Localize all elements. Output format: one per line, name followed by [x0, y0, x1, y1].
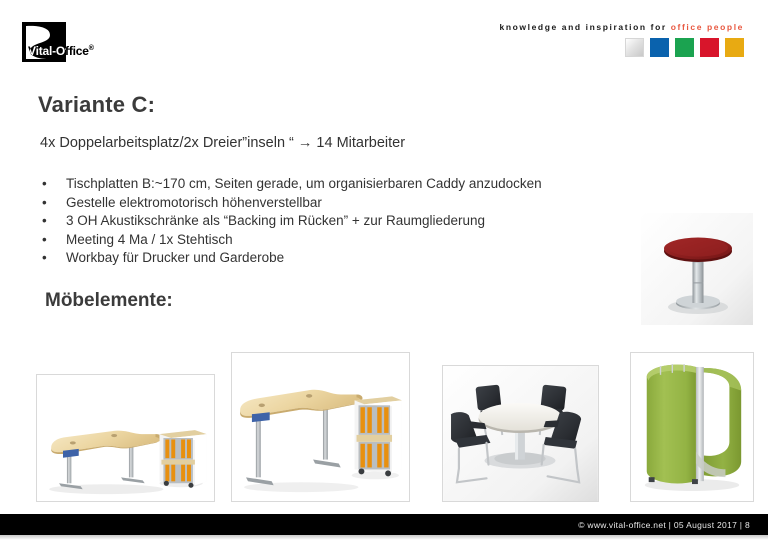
bullet-marker: • — [42, 231, 66, 250]
desk-with-caddy-image-2 — [231, 352, 410, 502]
feature-bullet-list: • Tischplatten B:~170 cm, Seiten gerade,… — [42, 175, 682, 268]
footer-text: © www.vital-office.net | 05 August 2017 … — [578, 520, 768, 530]
workbay-screen-image — [630, 352, 754, 502]
list-item-label: Gestelle elektromotorisch höhenverstellb… — [66, 194, 322, 213]
header-tagline: knowledge and inspiration for office peo… — [500, 22, 745, 32]
logo-wordmark-text: Vital-Office — [28, 44, 89, 58]
silver-swatch — [625, 38, 644, 57]
logo-wordmark: Vital-Office® — [28, 44, 94, 58]
logo: Vital-Office® — [22, 22, 94, 62]
list-item-label: Meeting 4 Ma / 1x Stehtisch — [66, 231, 233, 250]
list-item: • Gestelle elektromotorisch höhenverstel… — [42, 194, 682, 213]
brand-color-swatches — [625, 38, 744, 57]
bullet-marker: • — [42, 212, 66, 231]
standing-table-image — [641, 213, 753, 325]
list-item: • Meeting 4 Ma / 1x Stehtisch — [42, 231, 682, 250]
meeting-table-image — [442, 365, 599, 502]
list-item-label: Tischplatten B:~170 cm, Seiten gerade, u… — [66, 175, 542, 194]
list-item-label: 3 OH Akustikschränke als “Backing im Rüc… — [66, 212, 485, 231]
yellow-swatch — [725, 38, 744, 57]
red-swatch — [700, 38, 719, 57]
list-item: • Tischplatten B:~170 cm, Seiten gerade,… — [42, 175, 682, 194]
tagline-plain: knowledge and inspiration for — [500, 22, 671, 32]
bullet-marker: • — [42, 194, 66, 213]
desk-with-caddy-image-1 — [36, 374, 215, 502]
list-item: • Workbay für Drucker und Garderobe — [42, 249, 682, 268]
list-item-label: Workbay für Drucker und Garderobe — [66, 249, 284, 268]
section-title: Möbelemente: — [45, 290, 173, 312]
slide-canvas: Vital-Office® knowledge and inspiration … — [0, 0, 768, 543]
blue-swatch — [650, 38, 669, 57]
footer-bar: © www.vital-office.net | 05 August 2017 … — [0, 514, 768, 535]
bullet-marker: • — [42, 175, 66, 194]
registered-mark: ® — [89, 45, 94, 52]
list-item: • 3 OH Akustikschränke als “Backing im R… — [42, 212, 682, 231]
footer-shadow — [0, 535, 768, 540]
green-swatch — [675, 38, 694, 57]
bullet-marker: • — [42, 249, 66, 268]
page-title: Variante C: — [38, 92, 155, 118]
page-subtitle: 4x Doppelarbeitsplatz/2x Dreier”inseln “… — [40, 135, 405, 151]
tagline-accent: office people — [671, 22, 744, 32]
